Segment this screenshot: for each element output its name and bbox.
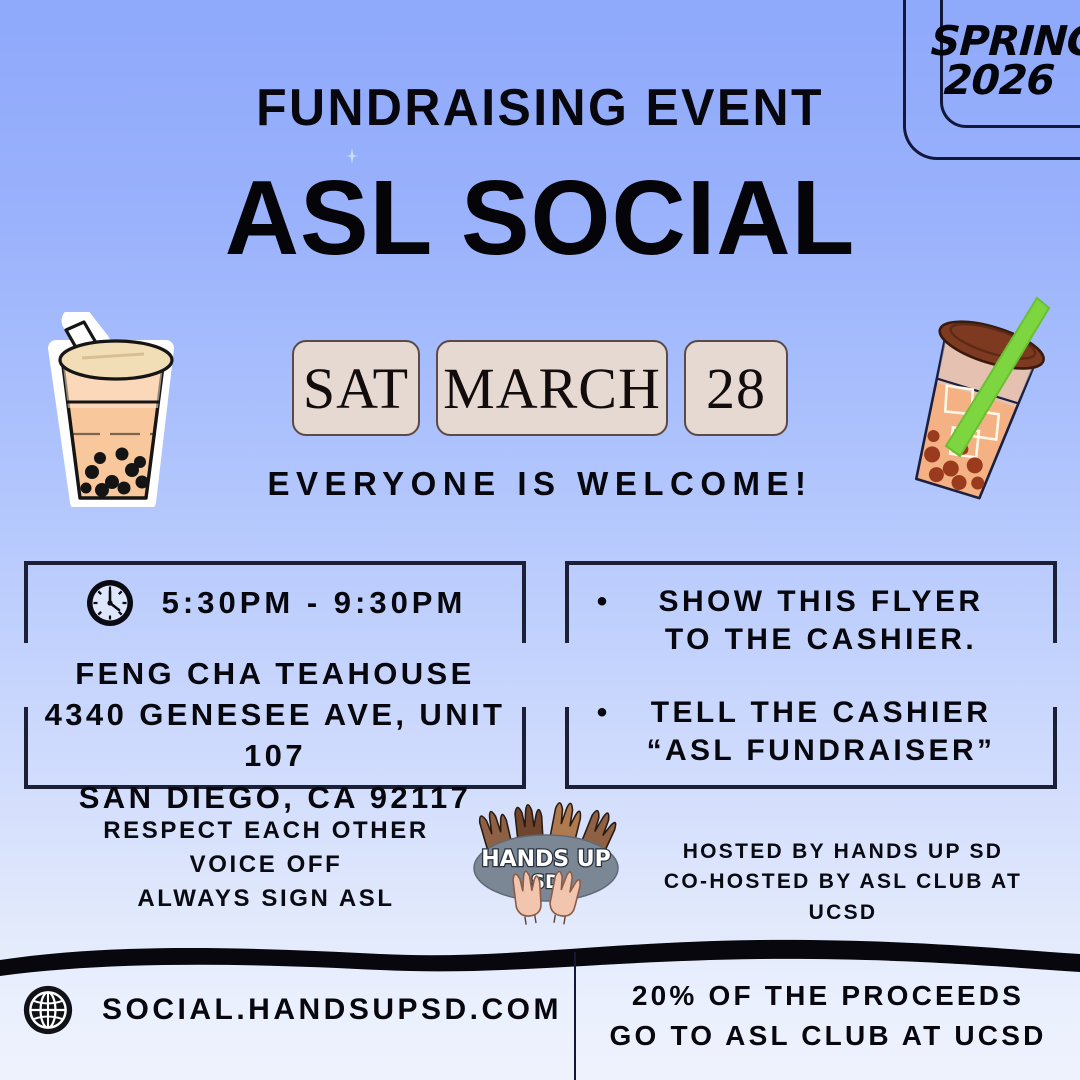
hands-up-sd-logo: HANDS UP SD [452,800,640,925]
date-month-pill: MARCH [436,340,668,436]
venue-name: FENG CHA TEAHOUSE [24,653,526,694]
venue-street: 4340 GENESEE AVE, UNIT 107 [24,694,526,776]
proceeds-line1: 20% OF THE PROCEEDS [578,976,1078,1016]
list-item: • SHOW THIS FLYER TO THE CASHIER. [583,583,1039,660]
flyer-canvas: SPRING 2026 FUNDRAISING EVENT ASL SOCIAL [0,0,1080,1080]
list-item: • TELL THE CASHIER “ASL FUNDRAISER” [583,694,1039,771]
footer-vertical-divider [574,952,576,1080]
wave-divider [0,918,1080,978]
clock-icon [84,577,136,629]
bullet-icon: • [583,583,621,621]
proceeds-note: 20% OF THE PROCEEDS GO TO ASL CLUB AT UC… [578,976,1078,1056]
page-title: ASL SOCIAL [16,158,1064,279]
instruction-line1: TELL THE CASHIER [651,696,992,729]
etiquette-rules: RESPECT EACH OTHER VOICE OFF ALWAYS SIGN… [96,814,436,916]
event-details-box: 5:30PM - 9:30PM FENG CHA TEAHOUSE 4340 G… [24,561,526,789]
event-kicker: FUNDRAISING EVENT [22,78,1059,138]
date-weekday-pill: SAT [292,340,420,436]
event-date-row: SAT MARCH 28 [0,340,1080,436]
logo-text-line1: HANDS UP [481,847,611,872]
instruction-list: • SHOW THIS FLYER TO THE CASHIER. • TELL… [565,583,1057,771]
instruction-line2: TO THE CASHIER. [665,623,977,656]
sparkle-icon [346,148,358,164]
event-time: 5:30PM - 9:30PM [162,585,467,621]
welcome-banner: EVERYONE IS WELCOME! [0,465,1080,503]
globe-icon [22,982,74,1038]
rule-line1: RESPECT EACH OTHER [96,814,436,848]
rule-line3: ALWAYS SIGN ASL [96,882,436,916]
proceeds-line2: GO TO ASL CLUB AT UCSD [578,1016,1078,1056]
instruction-line1: SHOW THIS FLYER [659,585,984,618]
host-line1: HOSTED BY HANDS UP SD [638,837,1048,867]
bullet-icon: • [583,694,621,732]
venue-city: SAN DIEGO, CA 92117 [24,777,526,818]
instruction-line2: “ASL FUNDRAISER” [647,734,996,767]
instruction-text: SHOW THIS FLYER TO THE CASHIER. [621,583,1039,660]
instruction-text: TELL THE CASHIER “ASL FUNDRAISER” [621,694,1039,771]
time-row: 5:30PM - 9:30PM [24,577,526,629]
host-credits: HOSTED BY HANDS UP SD CO-HOSTED BY ASL C… [638,837,1048,928]
instructions-box: • SHOW THIS FLYER TO THE CASHIER. • TELL… [565,561,1057,789]
venue-address: FENG CHA TEAHOUSE 4340 GENESEE AVE, UNIT… [24,653,526,818]
website-url[interactable]: SOCIAL.HANDSUPSD.COM [102,993,562,1027]
rule-line2: VOICE OFF [96,848,436,882]
website-row[interactable]: SOCIAL.HANDSUPSD.COM [22,982,562,1038]
date-day-pill: 28 [684,340,788,436]
